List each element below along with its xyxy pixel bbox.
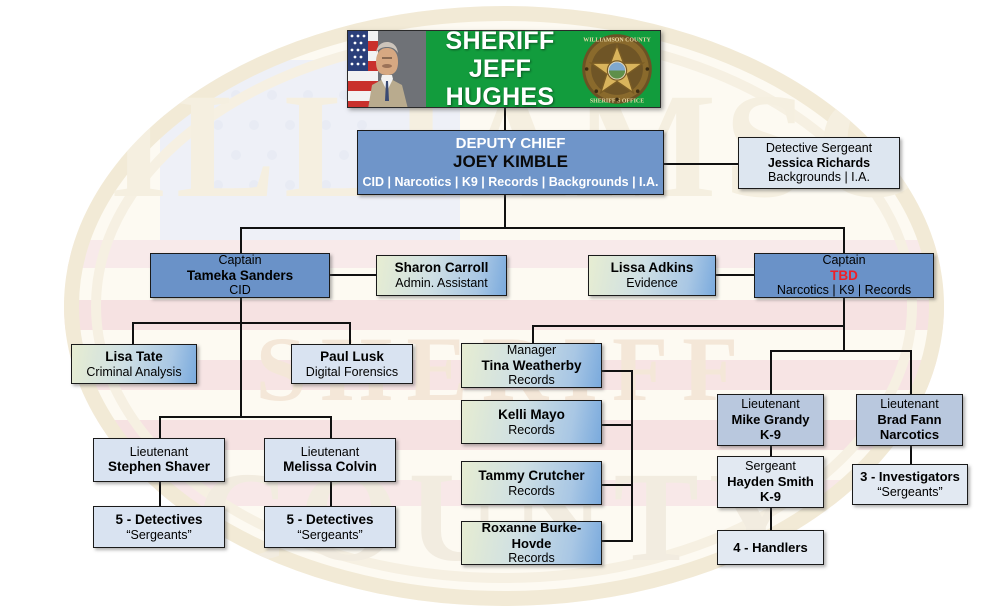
sergeant-k9-rank: Sergeant bbox=[718, 459, 823, 474]
connector-bus-to-captain-narc bbox=[843, 227, 845, 253]
lt-narcotics-unit: Narcotics bbox=[857, 427, 962, 442]
records-manager-rank: Manager bbox=[462, 343, 601, 358]
connector-cid-to-analysis bbox=[132, 322, 134, 344]
node-admin-assistant[interactable]: Sharon Carroll Admin. Assistant bbox=[376, 255, 507, 296]
connector-cid-admin bbox=[330, 274, 376, 276]
captain-cid-rank: Captain bbox=[151, 253, 329, 268]
connector-narc-to-ltk9 bbox=[770, 350, 772, 394]
deputy-chief-name: JOEY KIMBLE bbox=[358, 152, 663, 172]
captain-cid-name: Tameka Sanders bbox=[151, 268, 329, 284]
digital-forensics-name: Paul Lusk bbox=[292, 349, 412, 365]
svg-text:WILLIAMSON COUNTY: WILLIAMSON COUNTY bbox=[583, 38, 651, 44]
lt-k9-unit: K-9 bbox=[718, 427, 823, 442]
records-3-division: Records bbox=[462, 484, 601, 499]
records-manager-division: Records bbox=[462, 373, 601, 388]
banner-title-line2: JEFF HUGHES bbox=[426, 55, 574, 111]
deputy-chief-rank: DEPUTY CHIEF bbox=[358, 135, 663, 153]
node-lt-k9[interactable]: Lieutenant Mike Grandy K-9 bbox=[717, 394, 824, 446]
criminal-analysis-name: Lisa Tate bbox=[72, 349, 196, 365]
detective-sergeant-divisions: Backgrounds | I.A. bbox=[739, 170, 899, 185]
evidence-name: Lissa Adkins bbox=[589, 260, 715, 276]
connector-sgt-to-handlers bbox=[770, 508, 772, 530]
connector-records-stub-2 bbox=[601, 424, 633, 426]
node-records-2[interactable]: Kelli Mayo Records bbox=[461, 400, 602, 444]
lt-k9-name: Mike Grandy bbox=[718, 412, 823, 427]
node-sergeant-k9[interactable]: Sergeant Hayden Smith K-9 bbox=[717, 456, 824, 508]
records-2-name: Kelli Mayo bbox=[462, 407, 601, 423]
records-manager-name: Tina Weatherby bbox=[462, 358, 601, 374]
sheriff-portrait-photo bbox=[348, 31, 426, 107]
evidence-title: Evidence bbox=[589, 276, 715, 291]
lt-k9-rank: Lieutenant bbox=[718, 397, 823, 412]
connector-captain-bus bbox=[240, 227, 844, 229]
connector-cid-to-lt1 bbox=[159, 416, 161, 438]
connector-cid-branch-2 bbox=[159, 416, 331, 418]
lt-cid-2-name: Melissa Colvin bbox=[265, 459, 395, 475]
detectives-2-subtitle: “Sergeants” bbox=[265, 528, 395, 543]
node-records-3[interactable]: Tammy Crutcher Records bbox=[461, 461, 602, 505]
connector-cid-to-lt2 bbox=[330, 416, 332, 438]
captain-cid-division: CID bbox=[151, 283, 329, 298]
records-4-name: Roxanne Burke-Hovde bbox=[462, 520, 601, 551]
node-detectives-1[interactable]: 5 - Detectives “Sergeants” bbox=[93, 506, 225, 548]
node-captain-narcotics[interactable]: Captain TBD Narcotics | K9 | Records bbox=[754, 253, 934, 298]
connector-records-stub-3 bbox=[601, 484, 633, 486]
connector-cid-to-forensics bbox=[349, 322, 351, 344]
banner-title-line1: SHERIFF bbox=[426, 27, 574, 55]
sheriff-banner: SHERIFF JEFF HUGHES WILLIAMSON COUNTY SH… bbox=[347, 30, 661, 108]
connector-deputy-down bbox=[504, 195, 506, 228]
connector-records-drop bbox=[532, 325, 534, 343]
connector-records-stub-1 bbox=[601, 370, 633, 372]
org-chart-canvas: WILLIAMSON COUNTY SHERIFF bbox=[0, 0, 1008, 612]
connector-cid-down-2 bbox=[240, 322, 242, 418]
admin-assistant-name: Sharon Carroll bbox=[377, 260, 506, 276]
detectives-1-subtitle: “Sergeants” bbox=[94, 528, 224, 543]
lt-cid-1-name: Stephen Shaver bbox=[94, 459, 224, 475]
node-deputy-chief[interactable]: DEPUTY CHIEF JOEY KIMBLE CID | Narcotics… bbox=[357, 130, 664, 195]
banner-title: SHERIFF JEFF HUGHES bbox=[426, 27, 574, 111]
connector-records-spine bbox=[631, 370, 633, 542]
records-2-division: Records bbox=[462, 423, 601, 438]
lt-narcotics-name: Brad Fann bbox=[857, 412, 962, 427]
node-lt-narcotics[interactable]: Lieutenant Brad Fann Narcotics bbox=[856, 394, 963, 446]
captain-narcotics-rank: Captain bbox=[755, 253, 933, 268]
node-records-4[interactable]: Roxanne Burke-Hovde Records bbox=[461, 521, 602, 565]
records-3-name: Tammy Crutcher bbox=[462, 468, 601, 484]
handlers-count: 4 - Handlers bbox=[718, 540, 823, 555]
sergeant-k9-name: Hayden Smith bbox=[718, 474, 823, 489]
lt-narcotics-rank: Lieutenant bbox=[857, 397, 962, 412]
connector-narc-to-records bbox=[532, 325, 845, 327]
investigators-subtitle: “Sergeants” bbox=[853, 485, 967, 500]
detective-sergeant-name: Jessica Richards bbox=[739, 156, 899, 171]
detectives-1-count: 5 - Detectives bbox=[94, 512, 224, 528]
node-digital-forensics[interactable]: Paul Lusk Digital Forensics bbox=[291, 344, 413, 384]
captain-narcotics-divisions: Narcotics | K9 | Records bbox=[755, 283, 933, 298]
node-lt-cid-1[interactable]: Lieutenant Stephen Shaver bbox=[93, 438, 225, 482]
lt-cid-2-rank: Lieutenant bbox=[265, 445, 395, 460]
deputy-chief-divisions: CID | Narcotics | K9 | Records | Backgro… bbox=[358, 175, 663, 190]
captain-narcotics-name: TBD bbox=[755, 268, 933, 284]
records-4-division: Records bbox=[462, 551, 601, 566]
connector-ltnarc-to-inv bbox=[910, 446, 912, 464]
node-handlers[interactable]: 4 - Handlers bbox=[717, 530, 824, 565]
sergeant-k9-unit: K-9 bbox=[718, 489, 823, 504]
connector-narc-to-ltnarc bbox=[910, 350, 912, 394]
detectives-2-count: 5 - Detectives bbox=[265, 512, 395, 528]
lt-cid-1-rank: Lieutenant bbox=[94, 445, 224, 460]
connector-deputy-detsgt bbox=[664, 163, 738, 165]
node-captain-cid[interactable]: Captain Tameka Sanders CID bbox=[150, 253, 330, 298]
connector-narc-evidence bbox=[716, 274, 754, 276]
connector-records-stub-4 bbox=[601, 540, 633, 542]
admin-assistant-title: Admin. Assistant bbox=[377, 276, 506, 291]
node-criminal-analysis[interactable]: Lisa Tate Criminal Analysis bbox=[71, 344, 197, 384]
node-investigators[interactable]: 3 - Investigators “Sergeants” bbox=[852, 464, 968, 505]
node-evidence[interactable]: Lissa Adkins Evidence bbox=[588, 255, 716, 296]
connector-lt1-to-det1 bbox=[159, 482, 161, 506]
investigators-count: 3 - Investigators bbox=[853, 469, 967, 484]
node-lt-cid-2[interactable]: Lieutenant Melissa Colvin bbox=[264, 438, 396, 482]
criminal-analysis-title: Criminal Analysis bbox=[72, 365, 196, 380]
connector-bus-to-captain-cid bbox=[240, 227, 242, 253]
node-detective-sergeant[interactable]: Detective Sergeant Jessica Richards Back… bbox=[738, 137, 900, 189]
connector-lt2-to-det2 bbox=[330, 482, 332, 506]
node-detectives-2[interactable]: 5 - Detectives “Sergeants” bbox=[264, 506, 396, 548]
detective-sergeant-rank: Detective Sergeant bbox=[739, 141, 899, 156]
digital-forensics-title: Digital Forensics bbox=[292, 365, 412, 380]
connector-narc-branch bbox=[770, 350, 912, 352]
connector-sheriff-deputy bbox=[504, 108, 506, 130]
sheriff-badge-icon: WILLIAMSON COUNTY SHERIFF'S OFFICE bbox=[574, 31, 660, 107]
node-records-manager[interactable]: Manager Tina Weatherby Records bbox=[461, 343, 602, 388]
